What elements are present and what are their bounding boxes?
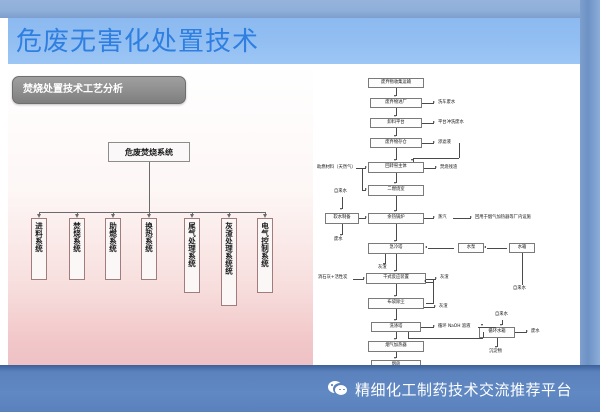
process-annotation: 灰渣 (440, 276, 449, 280)
flow-arrow-right-icon (365, 188, 367, 190)
flow-arrow-right-icon (433, 325, 435, 327)
flow-line (522, 253, 523, 285)
process-annotation: 回用于烟气加热器等厂内设施 (475, 216, 531, 220)
flow-line (426, 303, 433, 304)
flow-line (396, 224, 397, 241)
process-diagram-panel: 废弃物收集运输 废弃物进厂 卸料平台 废弃物存仓 回转窑主体 二燃烧室 余热锅炉… (313, 64, 580, 365)
flow-arrow-right-icon (365, 216, 367, 218)
flow-line (396, 196, 397, 211)
flow-line (428, 248, 454, 249)
flow-line (408, 338, 483, 339)
org-leaf-node: 灰渣处理系统统 (221, 218, 237, 306)
org-leaf-node: 尾气处理系统 (184, 218, 200, 293)
flow-arrow-down-icon (394, 338, 396, 340)
flow-line (459, 143, 460, 158)
process-node: 废弃物存仓 (370, 138, 422, 148)
process-annotation: 平台冲洗废水 (438, 121, 464, 125)
flow-arrow-down-icon (394, 240, 396, 242)
flow-line (453, 218, 471, 219)
system-breakdown-chart: 危废焚烧系统 进料系统 焚烧系统 助燃系统 换热系统 (8, 130, 298, 315)
org-trunk-line (149, 162, 150, 212)
process-side-node: 水泵 (458, 243, 484, 253)
top-decorative-strip (0, 0, 600, 18)
flow-line (433, 279, 434, 304)
flow-arrow-right-icon (433, 101, 435, 103)
flow-arrow-down-icon (340, 234, 342, 236)
flow-arrow-left-icon (425, 246, 427, 248)
process-annotation: 洗车废水 (438, 101, 455, 105)
process-node: 废弃物收集运输 (368, 78, 424, 88)
flow-line (487, 248, 507, 249)
org-leaf-node: 助燃系统 (105, 218, 121, 280)
section-label-text: 焚烧处置技术工艺分析 (23, 77, 123, 103)
page-title: 危废无害化处置技术 (16, 24, 416, 60)
slide: 危废无害化处置技术 焚烧处置技术工艺分析 危废焚烧系统 进料系统 焚烧系统 (0, 0, 600, 412)
org-leaf-node: 电气控制系统 (257, 218, 273, 293)
org-leaf-label: 尾气处理系统 (186, 222, 199, 267)
flow-arrow-down-icon (495, 346, 497, 348)
org-leaf-label: 焚烧系统 (71, 222, 84, 252)
process-annotation: 消石灰+活性炭 (318, 276, 347, 280)
flow-arrow-down-icon (481, 324, 483, 326)
process-node: 回转窑主体 (368, 162, 424, 173)
flow-arrow-down-icon (394, 182, 396, 184)
flow-arrow-down-icon (394, 270, 396, 272)
flow-arrow-down-icon (394, 115, 396, 117)
flow-arrow-down-icon (394, 210, 396, 212)
org-bus-line (39, 212, 265, 213)
process-annotation: 废水 (531, 330, 540, 334)
flow-arrow-down-icon (394, 357, 396, 359)
flow-arrow-right-icon (433, 141, 435, 143)
flow-line (362, 168, 363, 190)
flow-line (478, 327, 496, 328)
org-leaf-label: 进料系统 (33, 222, 46, 252)
process-node: 布袋除尘 (368, 298, 424, 309)
process-node: 废弃物进厂 (370, 98, 422, 108)
org-root-node: 危废焚烧系统 (108, 142, 190, 162)
flow-line (483, 332, 484, 338)
flow-arrow-down-icon (340, 208, 342, 210)
flow-arrow-right-icon (435, 166, 437, 168)
process-annotation: 焚烧残渣 (440, 166, 457, 170)
org-leaf-node: 进料系统 (31, 218, 47, 280)
org-leaf-node: 焚烧系统 (69, 218, 85, 280)
wechat-icon (328, 381, 348, 397)
process-annotation: 废水 (334, 238, 343, 242)
process-node: 急冷塔 (368, 243, 424, 254)
flow-arrow-right-icon (433, 121, 435, 123)
process-annotation: 助燃材料（天然气） (317, 166, 356, 170)
flow-line (396, 254, 397, 271)
flow-arrow-right-icon (470, 216, 472, 218)
org-leaf-label: 助燃系统 (107, 222, 120, 252)
flow-arrow-right-icon (363, 277, 365, 279)
process-node: 余热锅炉 (368, 213, 424, 224)
process-node: 卸料平台 (370, 118, 422, 128)
flow-arrow-right-icon (526, 330, 528, 332)
process-annotation: 自来水 (513, 287, 526, 291)
process-annotation: 沉淀物 (489, 350, 502, 354)
process-annotation: 灰渣 (439, 305, 448, 309)
process-annotation: 循环 NaOH 溶液 (438, 325, 470, 329)
flow-arrow-down-icon (394, 95, 396, 97)
org-leaf-node: 换热系统 (141, 218, 157, 280)
process-node: 洗涤塔 (371, 322, 421, 332)
org-leaf-label: 电气控制系统 (259, 222, 272, 267)
process-node: 烟气加热器 (368, 341, 424, 352)
flow-arrow-right-icon (434, 305, 436, 307)
flow-arrow-down-icon (500, 324, 502, 326)
process-annotation: 灰渣 (378, 266, 387, 270)
process-side-node: 水箱 (509, 243, 535, 253)
org-leaf-label: 灰渣处理系统统 (223, 222, 236, 275)
right-decorative-strip (580, 0, 600, 412)
flow-arrow-right-icon (365, 166, 367, 168)
flow-arrow-right-icon (433, 216, 435, 218)
left-gutter (0, 18, 8, 365)
flow-arrow-down-icon (394, 159, 396, 161)
process-side-node: 软水制备 (325, 213, 359, 224)
process-annotation: 自来水 (495, 313, 508, 317)
footer-brand: 精细化工制药技术交流推荐平台 (300, 368, 600, 410)
process-annotation: 渗滤液 (438, 141, 451, 145)
process-side-node: 循环水箱 (479, 327, 515, 338)
footer-brand-text: 精细化工制药技术交流推荐平台 (355, 379, 572, 400)
flow-arrow-down-icon (394, 319, 396, 321)
org-leaf-label: 换热系统 (143, 222, 156, 252)
section-label-box: 焚烧处置技术工艺分析 (12, 76, 186, 104)
flow-arrow-down-icon (411, 159, 413, 161)
flow-arrow-down-icon (394, 135, 396, 137)
process-node: 二燃烧室 (368, 185, 424, 196)
flow-line (413, 158, 459, 159)
process-annotation: 自来水 (334, 190, 347, 194)
incineration-process-flowchart: 废弃物收集运输 废弃物进厂 卸料平台 废弃物存仓 回转窑主体 二燃烧室 余热锅炉… (313, 64, 580, 365)
flow-arrow-right-icon (435, 277, 437, 279)
flow-arrow-left-icon (424, 280, 426, 282)
process-annotation: 蒸汽 (438, 216, 447, 220)
flow-line (426, 282, 433, 283)
flow-arrow-down-icon (394, 295, 396, 297)
process-node: 干式反应装置 (366, 273, 426, 284)
flow-arrow-left-icon (484, 246, 486, 248)
